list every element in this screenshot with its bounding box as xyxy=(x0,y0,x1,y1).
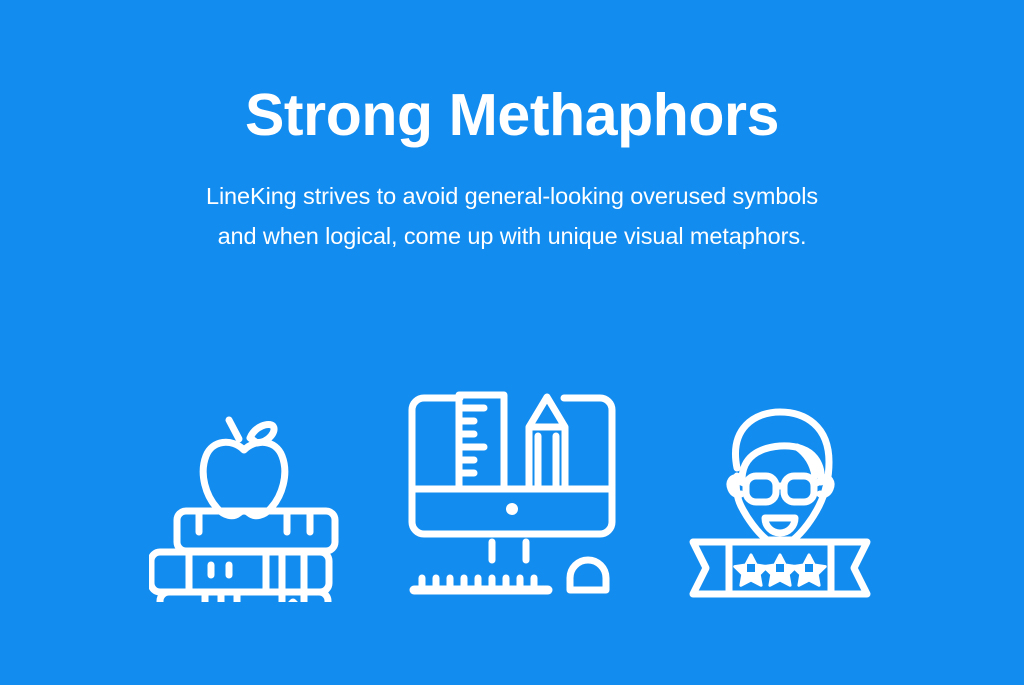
star-3-center-hole xyxy=(805,564,813,572)
glasses-temple-left xyxy=(737,480,746,484)
star-1-center-hole xyxy=(747,564,755,572)
icon-cell-design-tools xyxy=(387,352,637,602)
headline-block: Strong Methaphors LineKing strives to av… xyxy=(0,86,1024,257)
smile-shape xyxy=(765,518,795,533)
person-award-ribbon-icon xyxy=(685,406,875,602)
page-title: Strong Methaphors xyxy=(0,86,1024,145)
apple-stem-shape xyxy=(229,420,239,439)
page-subtitle-line-2: and when logical, come up with unique vi… xyxy=(0,216,1024,256)
star-2-center-hole xyxy=(776,564,784,572)
icon-row xyxy=(0,352,1024,602)
ribbon-banner-tail-right xyxy=(831,542,867,594)
monitor-ruler-pencil-icon xyxy=(404,386,620,602)
glasses-lens-left xyxy=(746,476,776,502)
mouse-shape xyxy=(570,560,606,590)
glasses-temple-right xyxy=(814,480,823,484)
apple-body-shape xyxy=(203,442,285,515)
ribbon-banner-shape xyxy=(693,542,729,594)
icon-cell-books xyxy=(119,352,369,602)
apple-on-books-icon xyxy=(149,390,339,602)
page-subtitle: LineKing strives to avoid general-lookin… xyxy=(0,145,1024,257)
glasses-lens-right xyxy=(784,476,814,502)
icon-cell-person-award xyxy=(655,352,905,602)
slide-root: Strong Methaphors LineKing strives to av… xyxy=(0,0,1024,685)
pencil-body-shape xyxy=(529,397,565,489)
apple-leaf-shape xyxy=(250,425,274,444)
page-subtitle-line-1: LineKing strives to avoid general-lookin… xyxy=(0,176,1024,216)
monitor-power-dot xyxy=(506,503,518,515)
